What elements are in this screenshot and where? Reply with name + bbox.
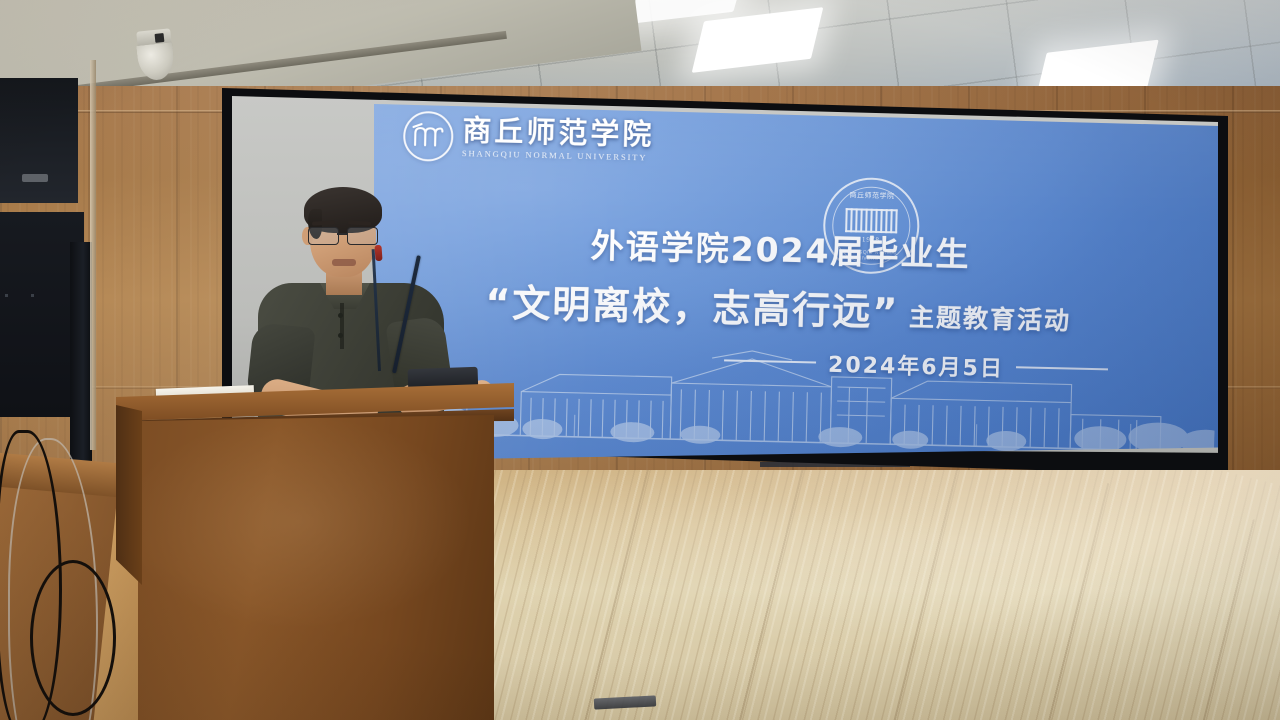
eyeglasses-icon	[306, 227, 380, 243]
lectern-front-panel	[138, 415, 494, 720]
presenter-mouth	[332, 259, 356, 266]
presenter-shirt-button	[338, 313, 343, 318]
eyeglass-lens-right	[347, 227, 378, 245]
presentation-room-photo: 商丘师范学院 SHANGQIU NORMAL UNIVERSITY 商丘师范学院…	[0, 0, 1280, 720]
wall-vertical-trim	[90, 60, 96, 450]
wooden-lectern	[116, 383, 514, 720]
presenter-eyebrows	[312, 221, 372, 225]
wall-speaker-cabinet	[0, 78, 78, 203]
presenter-placket	[340, 303, 344, 349]
eyeglass-bridge	[337, 233, 347, 235]
presenter-shirt-button	[338, 333, 343, 338]
eyeglass-lens-left	[308, 227, 339, 245]
lectern-side-panel	[116, 405, 142, 585]
floor-cables	[30, 560, 116, 716]
microphone-capsule	[374, 245, 382, 261]
